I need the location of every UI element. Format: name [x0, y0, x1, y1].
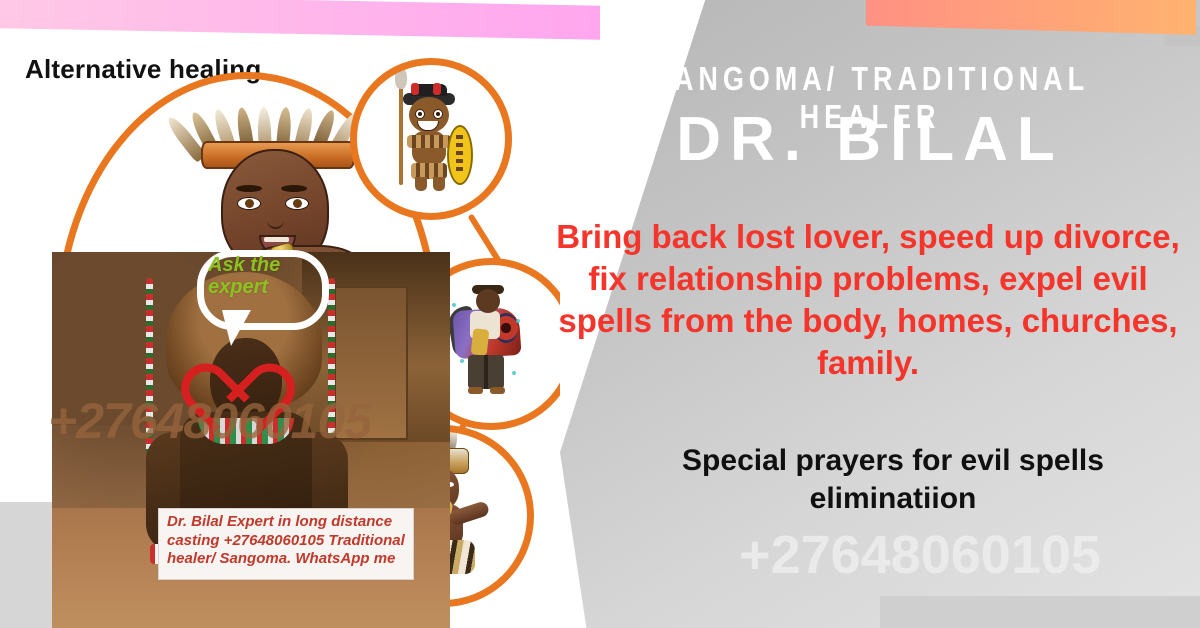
photo-caption-text: Dr. Bilal Expert in long distance castin… [167, 513, 405, 569]
photo-phone-watermark: +27648060105 [48, 392, 468, 450]
speech-bubble-text: Ask the expert [208, 254, 316, 299]
special-offer-text: Special prayers for evil spells eliminat… [600, 442, 1186, 517]
left-collage: Alternative healing [0, 0, 560, 628]
badge-connector-line-1 [467, 213, 502, 264]
phone-watermark: +27648060105 [640, 524, 1200, 586]
badge-zulu-warrior[interactable] [350, 58, 512, 220]
heart-icon [196, 335, 264, 397]
traditional-healer-icon [450, 285, 522, 399]
zulu-warrior-icon [391, 79, 469, 195]
healer-name: DR. BILAL [560, 104, 1180, 175]
poster-canvas: Alternative healing [0, 0, 1200, 628]
services-text: Bring back lost lover, speed up divorce,… [548, 216, 1188, 384]
photo-caption-box: Dr. Bilal Expert in long distance castin… [158, 508, 414, 580]
bottom-right-gray-band [880, 596, 1200, 628]
